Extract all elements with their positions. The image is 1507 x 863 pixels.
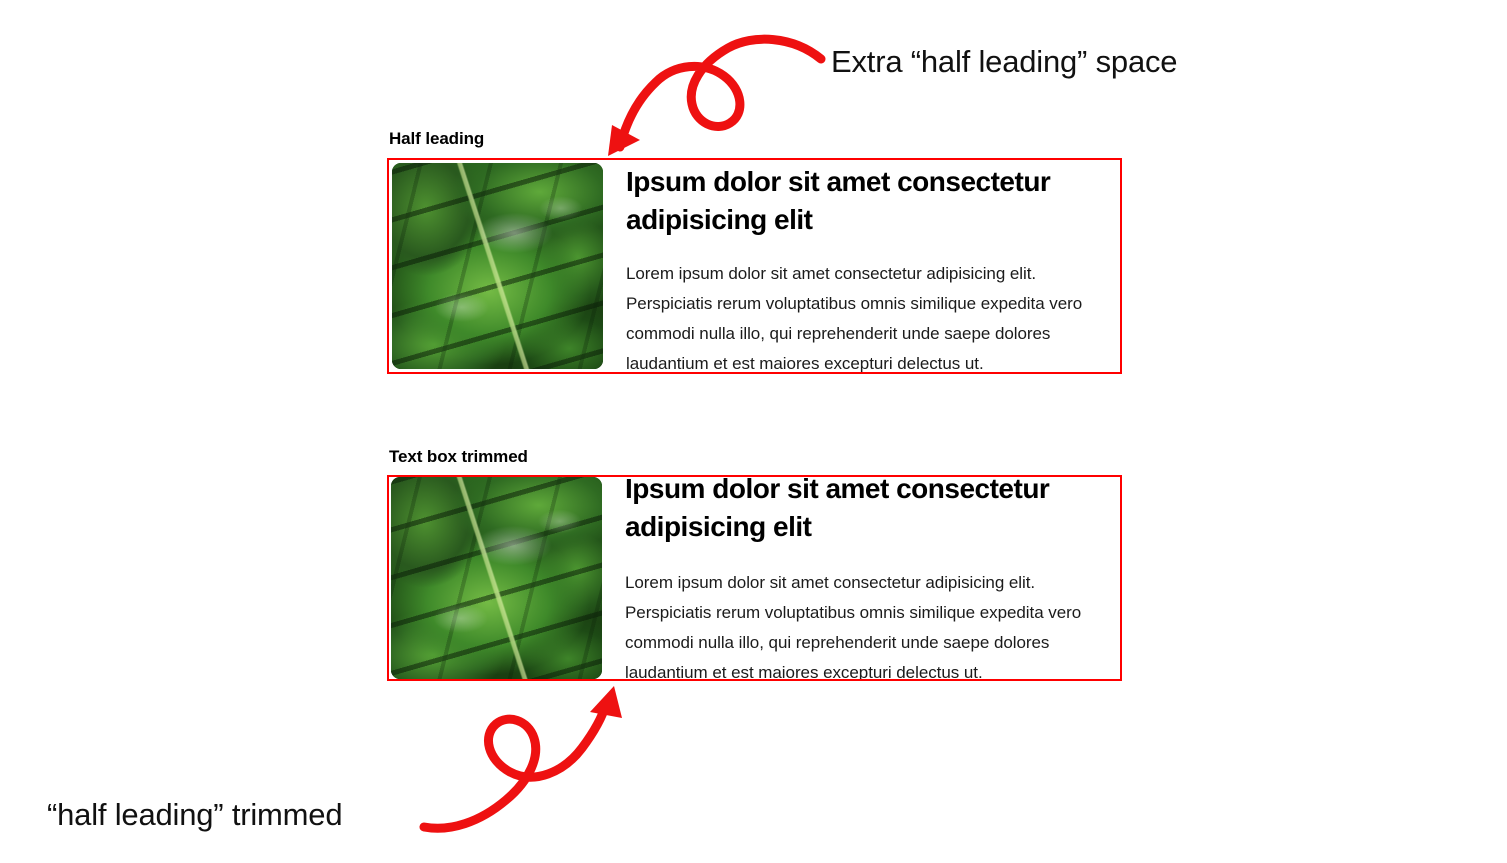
curly-arrow-up-right-icon bbox=[418, 682, 648, 832]
leaf-highlight-detail bbox=[392, 163, 603, 369]
annotation-label-half-leading-trimmed: “half leading” trimmed bbox=[47, 796, 342, 833]
card-thumbnail-image bbox=[391, 477, 602, 679]
diagram-canvas: Extra “half leading” space Half leading … bbox=[0, 0, 1507, 863]
curly-arrow-down-left-icon bbox=[588, 28, 838, 168]
annotation-label-extra-half-leading: Extra “half leading” space bbox=[831, 43, 1177, 80]
card-heading: Ipsum dolor sit amet consectetur adipisi… bbox=[625, 475, 1095, 546]
section-label-half-leading: Half leading bbox=[389, 129, 484, 149]
card-text-column: Ipsum dolor sit amet consectetur adipisi… bbox=[602, 477, 1120, 681]
leaf-highlight-detail bbox=[391, 477, 602, 679]
card-text-box-trimmed: Ipsum dolor sit amet consectetur adipisi… bbox=[387, 475, 1122, 681]
card-body-text: Lorem ipsum dolor sit amet consectetur a… bbox=[626, 259, 1108, 374]
card-half-leading: Ipsum dolor sit amet consectetur adipisi… bbox=[387, 158, 1122, 374]
card-heading: Ipsum dolor sit amet consectetur adipisi… bbox=[626, 163, 1096, 239]
card-thumbnail-image bbox=[392, 163, 603, 369]
section-label-text-box-trimmed: Text box trimmed bbox=[389, 447, 528, 467]
card-text-column: Ipsum dolor sit amet consectetur adipisi… bbox=[603, 160, 1120, 374]
card-body-text: Lorem ipsum dolor sit amet consectetur a… bbox=[625, 568, 1107, 681]
